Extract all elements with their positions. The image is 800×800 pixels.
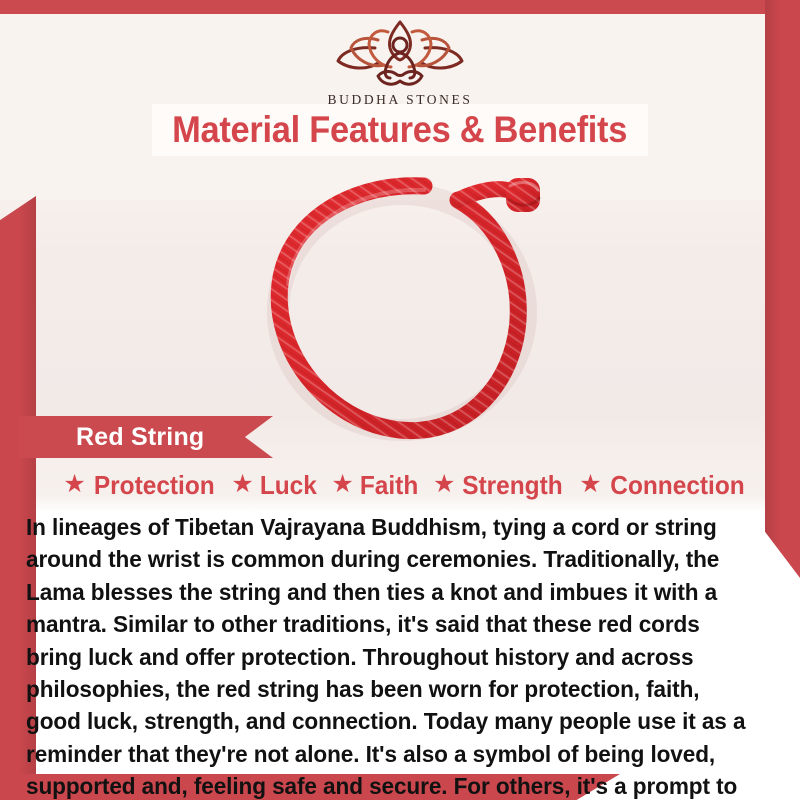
star-icon: ★ — [331, 472, 353, 497]
star-icon: ★ — [63, 472, 85, 497]
benefit-item: ★ Connection — [574, 470, 753, 501]
description-paragraph: In lineages of Tibetan Vajrayana Buddhis… — [26, 511, 756, 800]
benefit-item: ★ Faith — [326, 470, 425, 501]
star-icon: ★ — [231, 472, 253, 497]
star-icon: ★ — [579, 472, 601, 497]
page-title: Material Features & Benefits — [173, 109, 628, 151]
star-icon: ★ — [433, 472, 455, 497]
benefit-label: Faith — [360, 470, 418, 501]
benefit-item: ★ Protection — [58, 470, 223, 501]
benefits-row: ★ Protection ★ Luck ★ Faith ★ Strength ★… — [36, 464, 776, 506]
benefit-label: Luck — [260, 470, 317, 501]
brand-logo: BUDDHA STONES — [0, 18, 800, 108]
product-name-ribbon: Red String — [18, 416, 273, 458]
product-image-area — [0, 160, 800, 460]
benefit-label: Strength — [463, 470, 563, 501]
bracelet-knot — [506, 178, 540, 212]
benefit-item: ★ Luck — [226, 470, 323, 501]
title-banner: Material Features & Benefits — [152, 104, 648, 156]
description-block: In lineages of Tibetan Vajrayana Buddhis… — [26, 511, 756, 800]
decorative-top-band — [0, 0, 800, 14]
infographic-canvas: BUDDHA STONES Material Features & Benefi… — [0, 0, 800, 800]
benefit-label: Protection — [94, 470, 215, 501]
benefit-label: Connection — [610, 470, 744, 501]
red-string-bracelet-image — [252, 160, 562, 460]
product-name-label: Red String — [18, 423, 204, 452]
benefit-item: ★ Strength — [428, 470, 571, 501]
lotus-meditation-icon — [312, 18, 488, 90]
